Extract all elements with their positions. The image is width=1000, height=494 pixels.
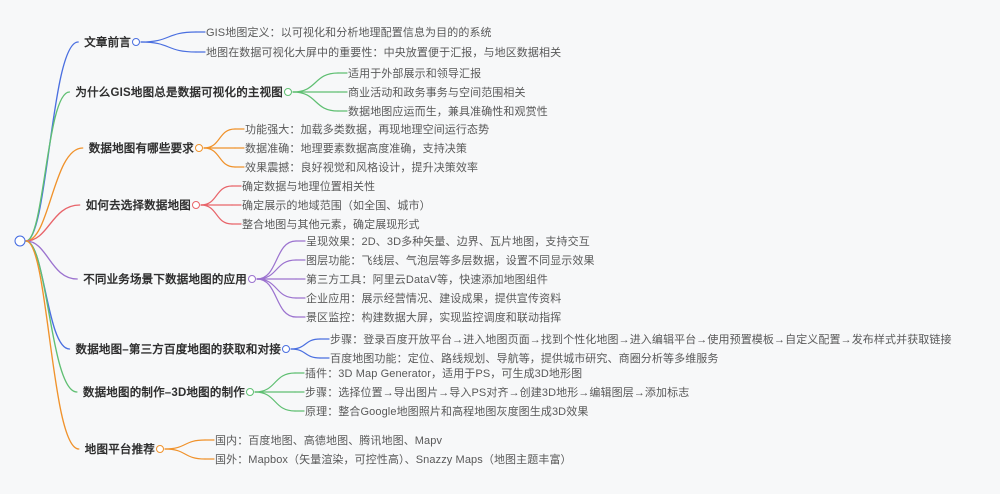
topic-node-three-d-map[interactable] bbox=[246, 388, 254, 396]
leaf-label-requirements-1[interactable]: 数据准确：地理要素数据高度准确，支持决策 bbox=[245, 140, 467, 156]
leaf-label-three-d-map-0[interactable]: 插件：3D Map Generator，适用于PS，可生成3D地形图 bbox=[305, 365, 582, 381]
topic-node-requirements[interactable] bbox=[195, 144, 203, 152]
leaf-label-preface-1[interactable]: 地图在数据可视化大屏中的重要性：中央放置便于汇报，与地区数据相关 bbox=[206, 44, 561, 60]
topic-label-preface[interactable]: 文章前言 bbox=[84, 34, 131, 50]
mindmap-edge bbox=[26, 241, 77, 392]
leaf-label-requirements-0[interactable]: 功能强大：加载多类数据，再现地理空间运行态势 bbox=[245, 121, 489, 137]
leaf-label-scenarios-3[interactable]: 企业应用：展示经营情况、建设成果，提供宣传资料 bbox=[306, 290, 561, 306]
mindmap-edge bbox=[26, 241, 79, 449]
leaf-label-why-gis-1[interactable]: 商业活动和政务事务与空间范围相关 bbox=[348, 84, 526, 100]
leaf-label-three-d-map-1[interactable]: 步骤：选择位置→导出图片→导入PS对齐→创建3D地形→编辑图层→添加标志 bbox=[305, 384, 689, 400]
topic-label-scenarios[interactable]: 不同业务场景下数据地图的应用 bbox=[83, 271, 247, 287]
mindmap-edge bbox=[291, 339, 320, 349]
topic-label-requirements[interactable]: 数据地图有哪些要求 bbox=[89, 140, 194, 156]
leaf-label-platforms-1[interactable]: 国外：Mapbox（矢量渲染，可控性高）、Snazzy Maps（地图主题丰富） bbox=[215, 451, 572, 467]
mindmap-edge bbox=[141, 42, 196, 52]
topic-label-three-d-map[interactable]: 数据地图的制作–3D地图的制作 bbox=[83, 384, 245, 400]
mindmap-edge bbox=[293, 92, 338, 111]
mindmap-edge bbox=[257, 260, 296, 279]
mindmap-edge bbox=[257, 279, 296, 317]
mindmap-edge bbox=[255, 373, 295, 392]
topic-label-baidu-map[interactable]: 数据地图–第三方百度地图的获取和对接 bbox=[76, 341, 282, 357]
mindmap-edge bbox=[26, 92, 69, 241]
leaf-label-scenarios-4[interactable]: 景区监控：构建数据大屏，实现监控调度和联动指挥 bbox=[306, 309, 561, 325]
mindmap-edge bbox=[141, 32, 196, 42]
mindmap-edge bbox=[165, 440, 205, 449]
root-node[interactable] bbox=[15, 236, 26, 247]
leaf-label-requirements-2[interactable]: 效果震撼：良好视觉和风格设计，提升决策效率 bbox=[245, 159, 478, 175]
leaf-label-scenarios-2[interactable]: 第三方工具：阿里云DataV等，快速添加地图组件 bbox=[306, 271, 548, 287]
topic-node-preface[interactable] bbox=[132, 38, 140, 46]
leaf-label-scenarios-1[interactable]: 图层功能：飞线层、气泡层等多层数据，设置不同显示效果 bbox=[306, 252, 595, 268]
topic-label-how-to-choose[interactable]: 如何去选择数据地图 bbox=[86, 197, 191, 213]
leaf-label-baidu-map-0[interactable]: 步骤：登录百度开放平台→进入地图页面→找到个性化地图→进入编辑平台→使用预置模板… bbox=[330, 331, 952, 347]
mindmap-edge bbox=[255, 392, 295, 411]
mindmap-edge bbox=[201, 186, 232, 205]
leaf-label-baidu-map-1[interactable]: 百度地图功能：定位、路线规划、导航等，提供城市研究、商圈分析等多维服务 bbox=[330, 350, 719, 366]
topic-label-why-gis[interactable]: 为什么GIS地图总是数据可视化的主视图 bbox=[75, 84, 283, 100]
mindmap-edge bbox=[291, 349, 320, 358]
topic-node-baidu-map[interactable] bbox=[282, 345, 290, 353]
topic-label-platforms[interactable]: 地图平台推荐 bbox=[85, 441, 155, 457]
leaf-label-how-to-choose-1[interactable]: 确定展示的地域范围（如全国、城市） bbox=[242, 197, 431, 213]
topic-node-why-gis[interactable] bbox=[284, 88, 292, 96]
mindmap-edge bbox=[26, 42, 78, 241]
mindmap-edge bbox=[26, 148, 83, 241]
mindmap-canvas: 文章前言GIS地图定义：以可视化和分析地理配置信息为目的的系统地图在数据可视化大… bbox=[0, 0, 1000, 494]
mindmap-edge bbox=[204, 148, 235, 167]
leaf-label-preface-0[interactable]: GIS地图定义：以可视化和分析地理配置信息为目的的系统 bbox=[206, 24, 492, 40]
mindmap-edge bbox=[257, 279, 296, 298]
leaf-label-why-gis-2[interactable]: 数据地图应运而生，兼具准确性和观赏性 bbox=[348, 103, 548, 119]
leaf-label-how-to-choose-2[interactable]: 整合地图与其他元素，确定展现形式 bbox=[242, 216, 420, 232]
mindmap-edge bbox=[26, 241, 70, 349]
mindmap-edge bbox=[26, 241, 77, 279]
leaf-label-platforms-0[interactable]: 国内：百度地图、高德地图、腾讯地图、Mapv bbox=[215, 432, 442, 448]
mindmap-edge bbox=[204, 129, 235, 148]
mindmap-edge bbox=[165, 449, 205, 459]
leaf-label-how-to-choose-0[interactable]: 确定数据与地理位置相关性 bbox=[242, 178, 375, 194]
mindmap-edge bbox=[293, 73, 338, 92]
mindmap-edge bbox=[201, 205, 232, 224]
leaf-label-why-gis-0[interactable]: 适用于外部展示和领导汇报 bbox=[348, 65, 481, 81]
leaf-label-scenarios-0[interactable]: 呈现效果：2D、3D多种矢量、边界、瓦片地图，支持交互 bbox=[306, 233, 590, 249]
topic-node-platforms[interactable] bbox=[156, 445, 164, 453]
mindmap-edge bbox=[257, 241, 296, 279]
mindmap-edge bbox=[26, 205, 80, 241]
topic-node-scenarios[interactable] bbox=[248, 275, 256, 283]
topic-node-how-to-choose[interactable] bbox=[192, 201, 200, 209]
leaf-label-three-d-map-2[interactable]: 原理：整合Google地图照片和高程地图灰度图生成3D效果 bbox=[305, 403, 588, 419]
